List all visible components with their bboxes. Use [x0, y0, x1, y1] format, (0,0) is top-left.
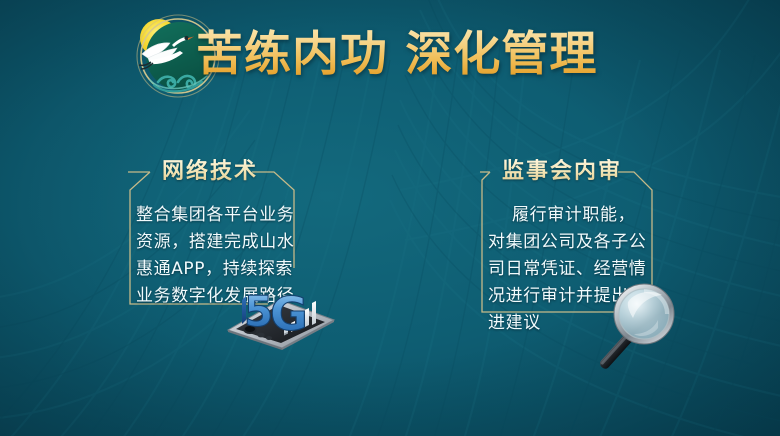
card-title-supervisory-board-audit: 监事会内审 — [502, 159, 622, 185]
poster-canvas: 苦练内功 深化管理 网络技术 整合集团各平台业务资源，搭建完成山水惠通APP，持… — [0, 0, 780, 436]
poster-header: 苦练内功 深化管理 — [0, 0, 780, 108]
5g-smartphone-icon: 5 G — [222, 282, 340, 350]
card-title-network-technology: 网络技术 — [162, 159, 258, 185]
magnifier-icon — [592, 278, 688, 378]
svg-text:5: 5 — [244, 287, 273, 336]
svg-text:G: G — [270, 287, 308, 341]
page-title: 苦练内功 深化管理 — [196, 16, 656, 92]
